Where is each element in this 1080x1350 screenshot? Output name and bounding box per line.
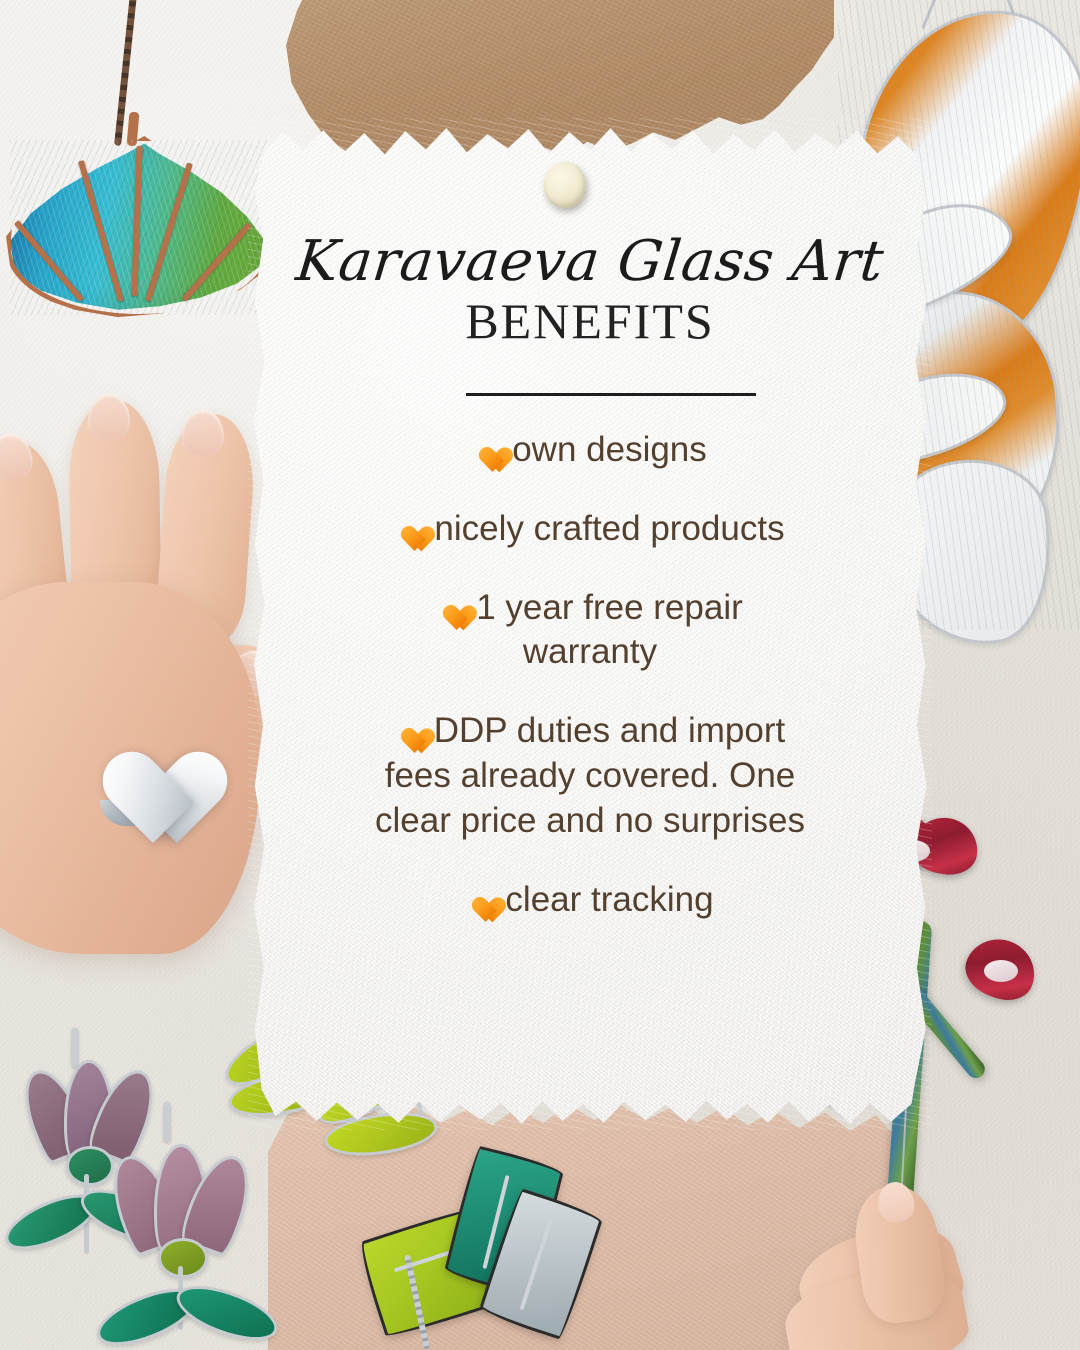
orange-heart-icon: [437, 595, 467, 622]
fingernail-middle: [88, 394, 130, 440]
earring-hook: [164, 1102, 170, 1142]
list-item: nicely crafted products: [248, 507, 932, 552]
orange-heart-icon: [473, 437, 503, 464]
hand-holding-branch: [782, 1196, 1080, 1350]
orange-heart-icon: [395, 516, 425, 543]
heart-ring: [80, 714, 192, 818]
bud-right: [984, 960, 1018, 982]
benefit-text: clear tracking: [505, 880, 713, 919]
orange-heart-icon: [395, 718, 425, 745]
list-item: DDP duties and import fees already cover…: [335, 709, 845, 843]
leaf-right: [170, 1275, 284, 1350]
list-item: own designs: [248, 428, 932, 473]
list-item: 1 year free repair warranty: [360, 586, 820, 676]
list-item: clear tracking: [248, 878, 932, 923]
pin-head-icon: [544, 162, 586, 208]
calyx: [158, 1238, 208, 1278]
benefit-text: nicely crafted products: [434, 509, 784, 548]
koi-whisker-left: [921, 0, 941, 29]
ginkgo-leaf-glass: [10, 140, 268, 315]
page-title: BENEFITS: [248, 296, 932, 346]
earring-hook: [72, 1028, 78, 1068]
benefit-text: 1 year free repair warranty: [476, 588, 743, 672]
glass-leaf-brooch: [330, 1150, 650, 1350]
orange-heart-icon: [466, 887, 496, 914]
benefit-text: own designs: [512, 430, 707, 469]
benefits-list: own designs nicely crafted products 1 ye…: [248, 428, 932, 956]
brand-title: Karavaeva Glass Art: [245, 234, 935, 290]
benefit-text: DDP duties and import fees already cover…: [375, 711, 805, 840]
title-divider: [466, 393, 756, 396]
card-content: Karavaeva Glass Art BENEFITS own designs…: [248, 118, 932, 1130]
poster-canvas: Karavaeva Glass Art BENEFITS own designs…: [0, 0, 1080, 1350]
